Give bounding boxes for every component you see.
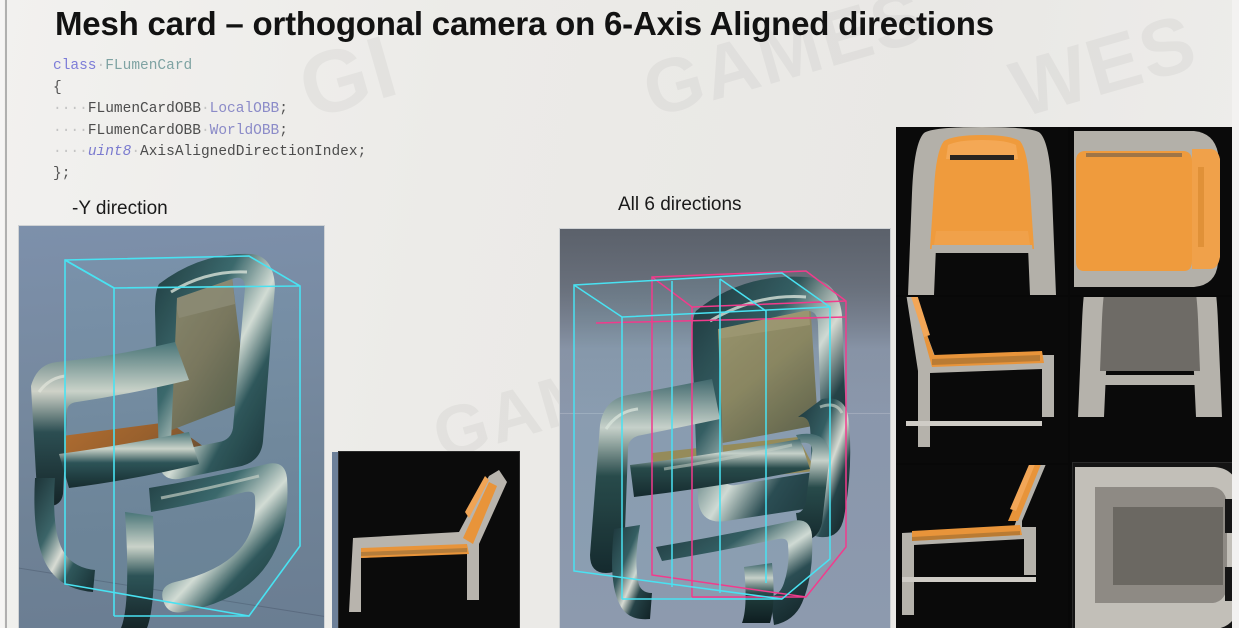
code-token: uint8 xyxy=(88,144,132,160)
atlas-cell-front[interactable] xyxy=(896,127,1068,295)
watermark-3: WES xyxy=(1001,0,1207,136)
code-token: FLumenCardOBB xyxy=(88,101,201,117)
code-token: ···· xyxy=(53,123,88,139)
bounding-box-cyan-left xyxy=(19,226,324,628)
code-token: FLumenCard xyxy=(105,58,192,74)
atlas-cell-back[interactable] xyxy=(1070,297,1232,463)
slide-left-margin xyxy=(0,0,4,628)
bounding-boxes-all-6 xyxy=(560,229,890,628)
code-token: ; xyxy=(358,144,367,160)
atlas-back-art xyxy=(1070,297,1232,463)
atlas-cell-side-right[interactable] xyxy=(896,465,1068,628)
viewport-left-label: -Y direction xyxy=(72,198,168,220)
code-token: WorldOBB xyxy=(210,123,280,139)
code-token: ; xyxy=(279,123,288,139)
code-token: class xyxy=(53,58,97,74)
code-token: AxisAlignedDirectionIndex xyxy=(140,144,358,160)
code-token: FLumenCardOBB xyxy=(88,123,201,139)
code-token: ···· xyxy=(53,101,88,117)
code-token: ···· xyxy=(53,144,88,160)
slide-title: Mesh card – orthogonal camera on 6-Axis … xyxy=(55,5,994,43)
code-token: · xyxy=(201,101,210,117)
slide-right-margin xyxy=(1232,0,1239,628)
code-line-5: }; xyxy=(53,164,366,186)
code-token: LocalOBB xyxy=(210,101,280,117)
slide-canvas: GI GAMES WES GAMES Mesh card – orthogona… xyxy=(0,0,1239,628)
code-line-3: ····FLumenCardOBB·WorldOBB; xyxy=(53,121,366,143)
code-line-0: class·FLumenCard xyxy=(53,56,366,78)
atlas-side-left-art xyxy=(896,297,1068,463)
code-token: ; xyxy=(279,101,288,117)
atlas-cell-side-left[interactable] xyxy=(896,297,1068,463)
card-preview-bottom-right[interactable] xyxy=(1072,462,1239,628)
code-line-1: { xyxy=(53,78,366,100)
atlas-side-right-art xyxy=(896,465,1068,628)
code-token: · xyxy=(201,123,210,139)
atlas-top-art xyxy=(1070,127,1232,295)
atlas-front-art xyxy=(896,127,1068,295)
card-chair-side-view xyxy=(339,452,519,628)
code-line-4: ····uint8·AxisAlignedDirectionIndex; xyxy=(53,142,366,164)
code-token: { xyxy=(53,80,62,96)
card-preview-minus-y[interactable] xyxy=(339,452,519,628)
code-block: class·FLumenCard{····FLumenCardOBB·Local… xyxy=(53,56,366,185)
card-bottom-right-art xyxy=(1073,463,1239,628)
viewport-minus-y[interactable] xyxy=(19,226,324,628)
viewport-middle-label: All 6 directions xyxy=(618,194,742,216)
code-line-2: ····FLumenCardOBB·LocalOBB; xyxy=(53,99,366,121)
card-small-left-strip xyxy=(332,452,339,628)
viewport-all-6-directions[interactable] xyxy=(560,229,890,628)
slide-left-rule xyxy=(5,0,7,628)
atlas-cell-top[interactable] xyxy=(1070,127,1232,295)
code-token: · xyxy=(131,144,140,160)
code-token: }; xyxy=(53,166,70,182)
code-token: · xyxy=(97,58,106,74)
